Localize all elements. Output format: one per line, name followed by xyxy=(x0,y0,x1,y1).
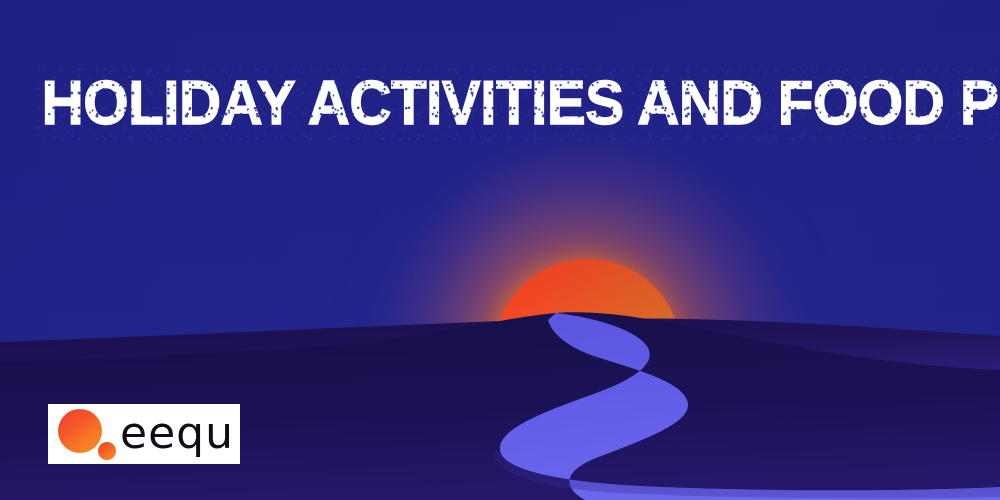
banner-graphic: HOLIDAY ACTIVITIES AND FOOD PROGRAMME ee… xyxy=(0,0,1000,500)
logo-wordmark: eequ xyxy=(120,408,234,460)
eequ-small-dot-icon xyxy=(98,442,116,460)
logo-inner: eequ xyxy=(48,404,240,464)
eequ-circle-mark-icon xyxy=(58,409,102,453)
eequ-logo[interactable]: eequ xyxy=(48,404,240,464)
